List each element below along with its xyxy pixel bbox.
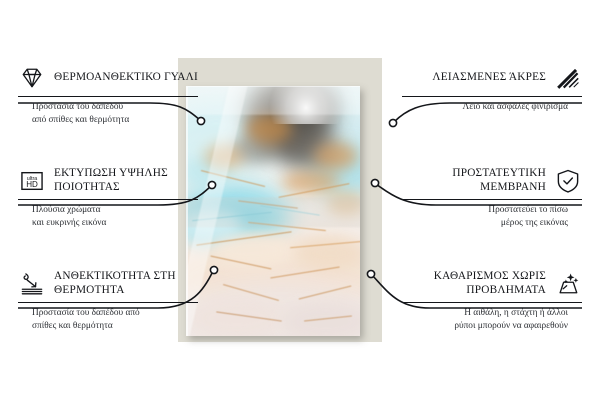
feature-title: ΚΑΘΑΡΙΣΜΟΣ ΧΩΡΙΣ ΠΡΟΒΛΗΜΑΤΑ <box>402 270 546 298</box>
infographic-canvas: ΘΕΡΜΟΑΝΘΕΚΤΙΚΟ ΓΥΑΛΙ Προστασία του δαπέδ… <box>0 0 600 400</box>
polished-edges-icon <box>554 64 582 92</box>
feature-description: Προστασία του δαπέδου από σπίθες και θερ… <box>18 307 198 334</box>
feature-divider <box>18 302 198 303</box>
diamond-icon <box>18 64 46 92</box>
heat-resistance-icon <box>18 270 46 298</box>
feature-heat-resistance[interactable]: ΑΝΘΕΚΤΙΚΟΤΗΤΑ ΣΤΗ ΘΕΡΜΟΤΗΤΑ Προστασία το… <box>18 270 198 334</box>
shield-check-icon <box>554 167 582 195</box>
feature-title: ΠΡΟΣΤΑΤΕΥΤΙΚΗ ΜΕΜΒΡΑΝΗ <box>402 167 546 195</box>
feature-divider <box>402 199 582 200</box>
feature-divider <box>18 199 198 200</box>
feature-heat-resistant-glass[interactable]: ΘΕΡΜΟΑΝΘΕΚΤΙΚΟ ΓΥΑΛΙ Προστασία του δαπέδ… <box>18 64 198 128</box>
easy-cleaning-icon <box>554 270 582 298</box>
connector-dot-right-1 <box>389 119 396 126</box>
feature-protective-membrane[interactable]: ΠΡΟΣΤΑΤΕΥΤΙΚΗ ΜΕΜΒΡΑΝΗ Προστατεύει το πί… <box>402 167 582 231</box>
feature-description: Η αιθάλη, η στάχτη ή άλλοι ρύποι μπορούν… <box>402 307 582 334</box>
feature-title: ΛΕΙΑΣΜΕΝΕΣ ΆΚΡΕΣ <box>432 71 546 85</box>
feature-easy-cleaning[interactable]: ΚΑΘΑΡΙΣΜΟΣ ΧΩΡΙΣ ΠΡΟΒΛΗΜΑΤΑ Η αιθάλη, η … <box>402 270 582 334</box>
feature-title: ΑΝΘΕΚΤΙΚΟΤΗΤΑ ΣΤΗ ΘΕΡΜΟΤΗΤΑ <box>54 270 198 298</box>
feature-divider <box>18 96 198 97</box>
feature-description: Λείο και ασφαλές φινίρισμα <box>402 101 582 114</box>
svg-text:HD: HD <box>26 180 38 189</box>
product-glass-panel[interactable] <box>186 86 360 336</box>
feature-divider <box>402 96 582 97</box>
ultra-hd-icon: ultra HD <box>18 167 46 195</box>
feature-high-quality-print[interactable]: ultra HD ΕΚΤΥΠΩΣΗ ΥΨΗΛΗΣ ΠΟΙΟΤΗΤΑΣ Πλούσ… <box>18 167 198 231</box>
feature-description: Πλούσια χρώματα και ευκρινής εικόνα <box>18 204 198 231</box>
product-artwork <box>186 86 360 336</box>
feature-title: ΕΚΤΥΠΩΣΗ ΥΨΗΛΗΣ ΠΟΙΟΤΗΤΑΣ <box>54 167 198 195</box>
feature-title: ΘΕΡΜΟΑΝΘΕΚΤΙΚΟ ΓΥΑΛΙ <box>54 71 198 85</box>
feature-polished-edges[interactable]: ΛΕΙΑΣΜΕΝΕΣ ΆΚΡΕΣ Λείο και ασφαλές φινίρι… <box>402 64 582 114</box>
feature-description: Προστατεύει το πίσω μέρος της εικόνας <box>402 204 582 231</box>
feature-description: Προστασία του δαπέδου από σπίθες και θερ… <box>18 101 198 128</box>
feature-divider <box>402 302 582 303</box>
